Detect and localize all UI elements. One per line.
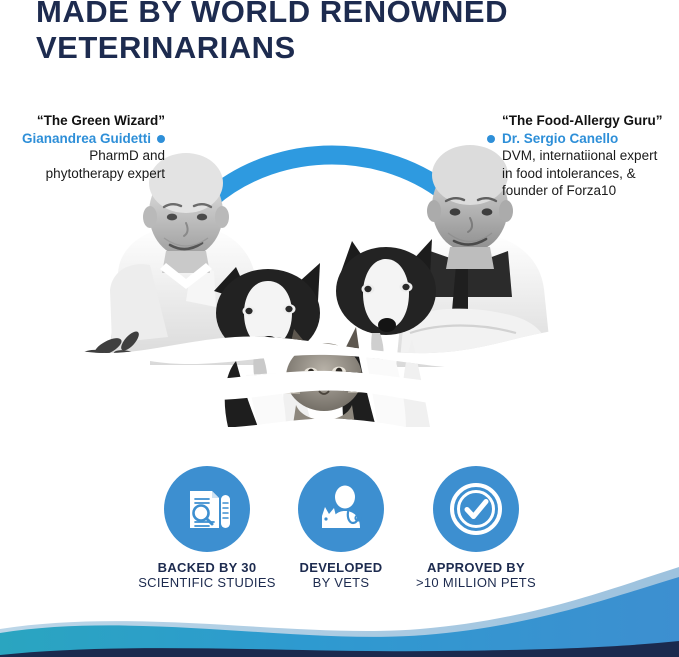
bottom-wave-decoration [0,567,679,657]
document-magnifier-icon [181,483,233,535]
infographic-page: MADE BY WORLD RENOWNED VETERINARIANS [0,0,679,657]
expert-right-desc-line-1: DVM, internatiional expert [487,147,679,165]
expert-right-name-row: Dr. Sergio Canello [487,130,679,148]
page-title: MADE BY WORLD RENOWNED VETERINARIANS [36,0,636,66]
badge-circle [433,466,519,552]
badge-circle [298,466,384,552]
bullet-dot-icon [487,135,495,143]
expert-left-name-row: Gianandrea Guidetti [0,130,165,148]
bullet-dot-icon [157,135,165,143]
badge-circle [164,466,250,552]
vets-and-pets-photo [80,145,552,431]
expert-right-desc-line-2: in food intolerances, & [487,165,679,183]
expert-left-desc-line-1: PharmD and [0,147,165,165]
wave-blue [0,577,679,657]
expert-left-nickname: “The Green Wizard” [0,112,165,130]
expert-left: “The Green Wizard” Gianandrea Guidetti P… [0,112,165,182]
expert-right: “The Food-Allergy Guru” Dr. Sergio Canel… [487,112,679,200]
vet-with-pet-icon [314,482,368,536]
expert-left-desc-line-2: phytotherapy expert [0,165,165,183]
page-title-line-1: MADE BY WORLD RENOWNED [36,0,636,30]
expert-right-nickname: “The Food-Allergy Guru” [487,112,679,130]
expert-right-desc-line-3: founder of Forza10 [487,182,679,200]
check-circle-icon [446,479,506,539]
expert-right-name: Dr. Sergio Canello [502,131,618,146]
page-title-line-2: VETERINARIANS [36,30,636,66]
expert-left-name: Gianandrea Guidetti [22,131,151,146]
